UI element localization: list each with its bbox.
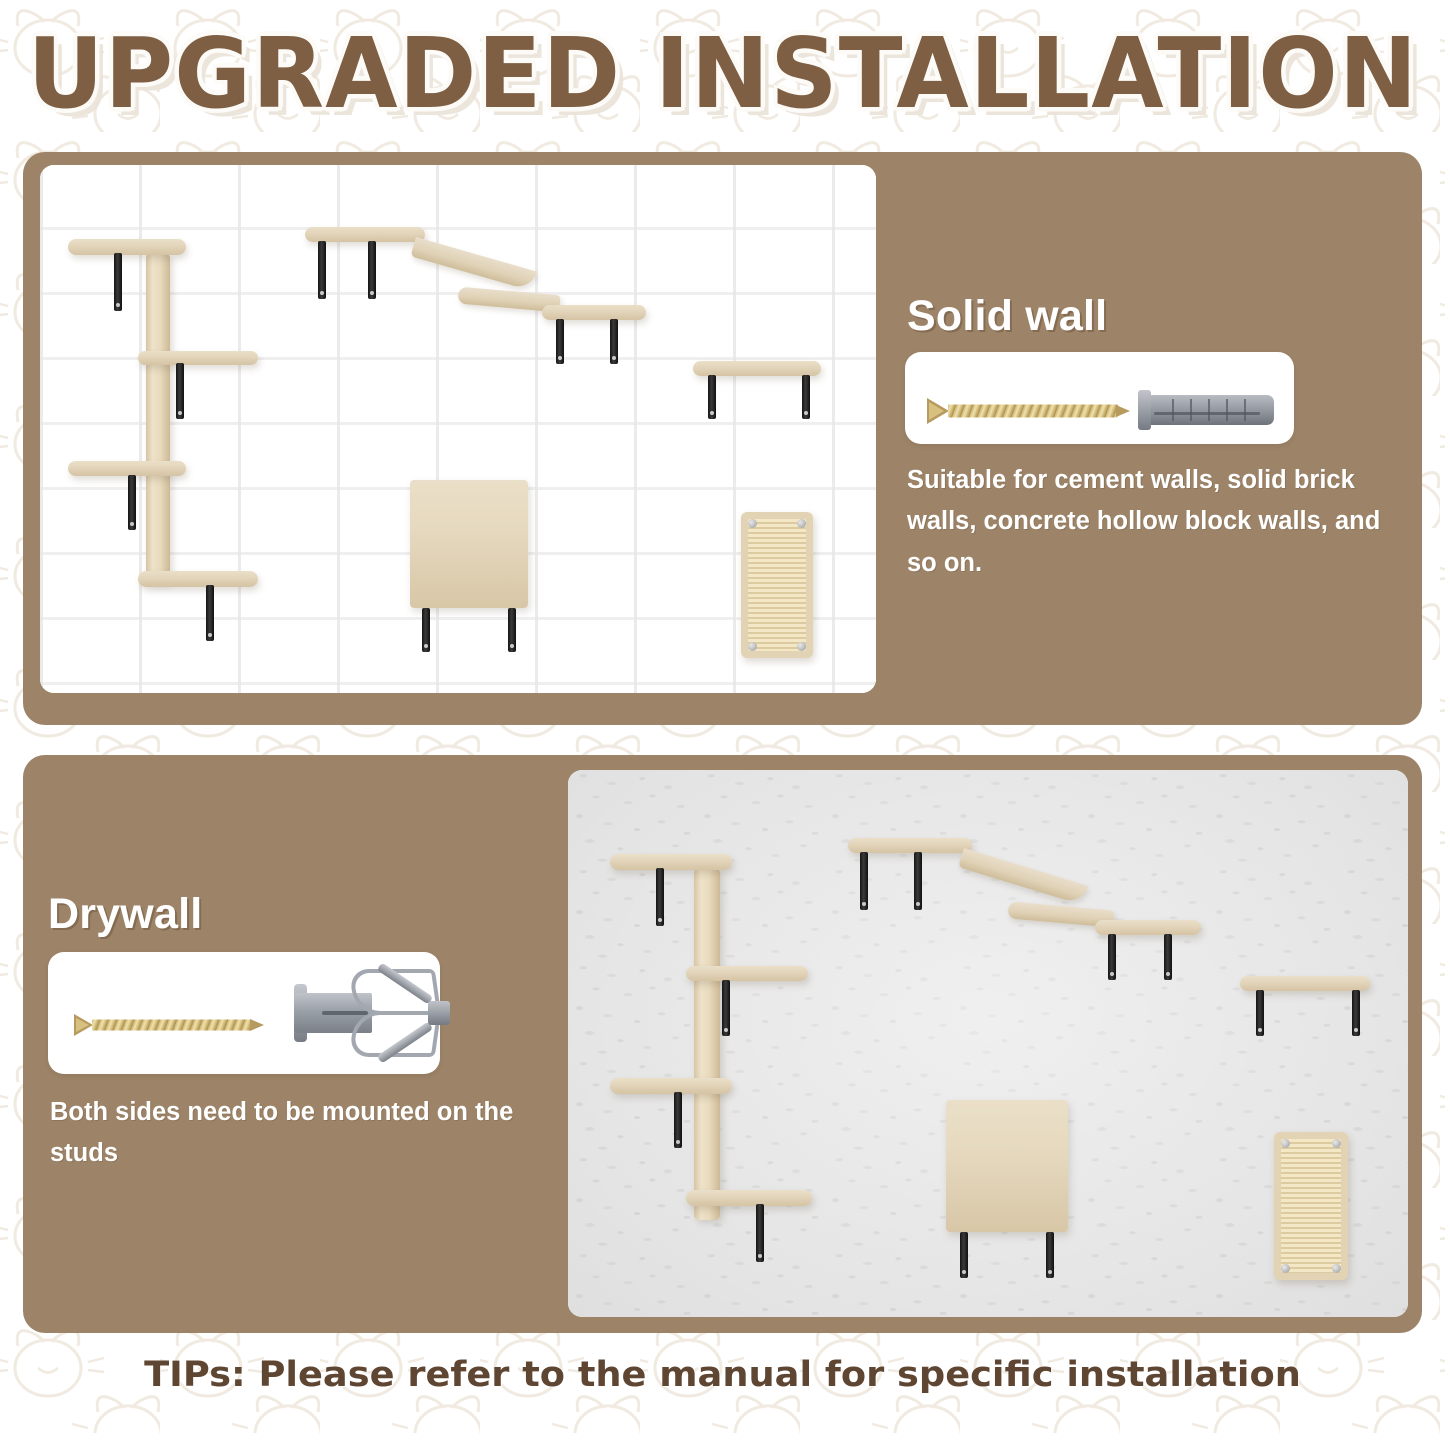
page-title: UPGRADED INSTALLATION — [27, 18, 1418, 130]
wall-shelf-top — [68, 239, 186, 255]
expansion-plug-anchor-icon — [1138, 395, 1274, 425]
wall-shelf-second — [686, 966, 808, 981]
mounting-bracket — [756, 1204, 764, 1262]
page-title-wrapper: UPGRADED INSTALLATION — [0, 14, 1445, 134]
footer-installation-tip: TIPs: Please refer to the manual for spe… — [0, 1355, 1445, 1395]
wall-shelf-bottom — [138, 571, 258, 587]
sisal-surface — [748, 519, 806, 651]
wall-shelf-right — [693, 361, 821, 376]
mounting-bracket — [422, 608, 430, 652]
wall-shelf-second — [138, 351, 258, 365]
pad-screw-icon — [797, 519, 806, 528]
cat-hammock-perch — [946, 1100, 1068, 1232]
mounting-bracket — [1108, 934, 1116, 980]
wall-shelf-ramp-top — [305, 227, 425, 242]
photo-solid-wall-installation — [40, 165, 876, 693]
pad-screw-icon — [797, 642, 806, 651]
mounting-bracket — [114, 253, 122, 311]
heading-solid-wall: Solid wall — [907, 292, 1107, 341]
mounting-bracket — [556, 319, 564, 364]
wall-shelf-top — [610, 854, 732, 870]
wall-shelf-middle — [542, 305, 646, 320]
wall-shelf-right — [1240, 976, 1370, 991]
mounting-bracket — [914, 852, 922, 910]
mounting-bracket — [206, 585, 214, 641]
mounting-bracket — [860, 852, 868, 910]
photo-drywall-installation — [568, 770, 1408, 1317]
hardware-card-solid-wall — [905, 352, 1294, 444]
anchor-rib — [1190, 399, 1192, 421]
mounting-bracket — [802, 375, 810, 419]
scratching-post-vertical — [694, 868, 720, 1220]
mounting-bracket — [1164, 934, 1172, 980]
description-solid-wall: Suitable for cement walls, solid brick w… — [907, 460, 1407, 584]
heading-drywall: Drywall — [48, 890, 202, 939]
wall-shelf-middle — [1095, 920, 1201, 935]
mounting-bracket — [318, 241, 326, 299]
sisal-scratching-pad — [741, 512, 813, 658]
wood-screw-icon — [927, 398, 1142, 424]
screw-shank — [948, 405, 1118, 418]
pad-screw-icon — [1281, 1264, 1290, 1273]
mounting-bracket — [176, 363, 184, 419]
anchor-collar — [1138, 390, 1151, 430]
wall-shelf-bottom — [686, 1190, 812, 1206]
anchor-expansion-slit — [1154, 412, 1260, 415]
pad-screw-icon — [1332, 1139, 1341, 1148]
screw-tip — [250, 1019, 264, 1031]
screw-head-highlight — [76, 1018, 89, 1032]
mounting-bracket — [960, 1232, 968, 1278]
mounting-bracket — [508, 608, 516, 652]
anchor-rib — [1172, 399, 1174, 421]
mounting-bracket — [722, 980, 730, 1036]
wall-shelf-third — [610, 1078, 732, 1094]
description-drywall: Both sides need to be mounted on the stu… — [50, 1092, 520, 1175]
screw-shank — [92, 1020, 252, 1031]
anchor-rib — [1226, 399, 1228, 421]
mounting-bracket — [1046, 1232, 1054, 1278]
mounting-bracket — [674, 1092, 682, 1148]
anchor-nose — [428, 1001, 450, 1025]
mounting-bracket — [656, 868, 664, 926]
mounting-bracket — [368, 241, 376, 299]
wall-shelf-ramp-top — [848, 838, 972, 853]
screw-head-highlight — [929, 402, 944, 420]
anchor-slot — [322, 1011, 368, 1015]
pad-screw-icon — [748, 519, 757, 528]
wood-screw-icon — [74, 1014, 274, 1036]
anchor-rib — [1244, 399, 1246, 421]
mounting-bracket — [610, 319, 618, 364]
scratching-post-vertical — [146, 253, 170, 583]
hardware-card-drywall — [48, 952, 440, 1074]
mounting-bracket — [1256, 990, 1264, 1036]
anchor-rib — [1208, 399, 1210, 421]
mounting-bracket — [128, 475, 136, 530]
mounting-bracket — [1352, 990, 1360, 1036]
screw-tip — [1116, 405, 1130, 417]
wall-shelf-third — [68, 461, 186, 476]
pad-screw-icon — [1281, 1139, 1290, 1148]
cat-hammock-perch — [410, 480, 528, 608]
pad-screw-icon — [1332, 1264, 1341, 1273]
pad-screw-icon — [748, 642, 757, 651]
mounting-bracket — [708, 375, 716, 419]
anchor-body — [1138, 395, 1274, 425]
sisal-scratching-pad — [1274, 1132, 1348, 1280]
sisal-surface — [1281, 1139, 1341, 1273]
